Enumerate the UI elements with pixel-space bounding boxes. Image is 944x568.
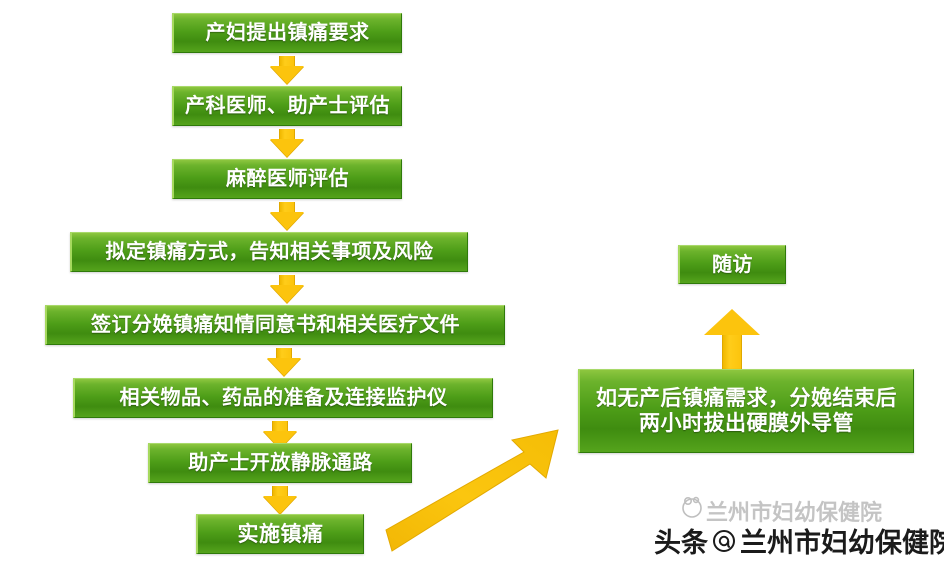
arrow-shaft (722, 334, 742, 369)
flow-node-2-label: 产科医师、助产士评估 (179, 94, 396, 118)
arrow-head-icon (270, 139, 304, 157)
connector-arrow-4 (255, 275, 319, 303)
flow-node-5[interactable]: 签订分娩镇痛知情同意书和相关医疗文件 (45, 305, 505, 345)
flow-node-8-label: 实施镇痛 (232, 522, 330, 547)
watermark-logo-icon (679, 494, 705, 520)
flow-node-6-label: 相关物品、药品的准备及连接监护仪 (114, 386, 454, 410)
flow-node-catheter-removal[interactable]: 如无产后镇痛需求，分娩结束后 两小时拔出硬膜外导管 (578, 369, 914, 453)
flowchart-canvas: 产妇提出镇痛要求 产科医师、助产士评估 麻醉医师评估 拟定镇痛方式，告知相关事项… (0, 0, 944, 568)
flow-node-7-label: 助产士开放静脉通路 (182, 451, 379, 475)
flow-node-followup-label: 随访 (706, 253, 759, 277)
flow-node-6[interactable]: 相关物品、药品的准备及连接监护仪 (73, 378, 493, 418)
watermark-prefix: 头条 (654, 521, 708, 560)
flow-node-2[interactable]: 产科医师、助产士评估 (172, 86, 402, 126)
flow-node-8[interactable]: 实施镇痛 (196, 514, 364, 554)
watermark-at-logo-icon (711, 528, 737, 554)
connector-arrow-7 (248, 486, 312, 514)
connector-arrow-diagonal (378, 418, 578, 558)
connector-arrow-5 (252, 348, 316, 376)
arrow-head-icon (270, 285, 304, 303)
connector-arrow-up (704, 309, 760, 369)
watermark-account-name: 兰州市妇幼保健院 (740, 521, 944, 560)
flow-node-4-label: 拟定镇痛方式，告知相关事项及风险 (100, 240, 440, 264)
diagonal-arrow-icon (378, 418, 578, 558)
flow-node-3[interactable]: 麻醉医师评估 (172, 159, 402, 199)
connector-arrow-3 (255, 202, 319, 230)
connector-arrow-1 (255, 56, 319, 84)
arrow-head-icon (704, 309, 760, 335)
arrow-head-icon (263, 496, 297, 514)
watermark-account: 头条 兰州市妇幼保健院 (654, 521, 944, 560)
flow-node-1[interactable]: 产妇提出镇痛要求 (172, 13, 402, 53)
flow-node-followup[interactable]: 随访 (678, 245, 786, 284)
arrow-head-icon (267, 358, 301, 376)
flow-node-3-label: 麻醉医师评估 (220, 167, 355, 191)
arrow-head-icon (270, 66, 304, 84)
flow-node-1-label: 产妇提出镇痛要求 (200, 21, 376, 45)
arrow-head-icon (270, 212, 304, 230)
flow-node-4[interactable]: 拟定镇痛方式，告知相关事项及风险 (70, 232, 468, 272)
flow-node-5-label: 签订分娩镇痛知情同意书和相关医疗文件 (85, 313, 466, 337)
flow-node-catheter-removal-label: 如无产后镇痛需求，分娩结束后 两小时拔出硬膜外导管 (590, 386, 903, 436)
connector-arrow-2 (255, 129, 319, 157)
flow-node-7[interactable]: 助产士开放静脉通路 (148, 443, 412, 483)
